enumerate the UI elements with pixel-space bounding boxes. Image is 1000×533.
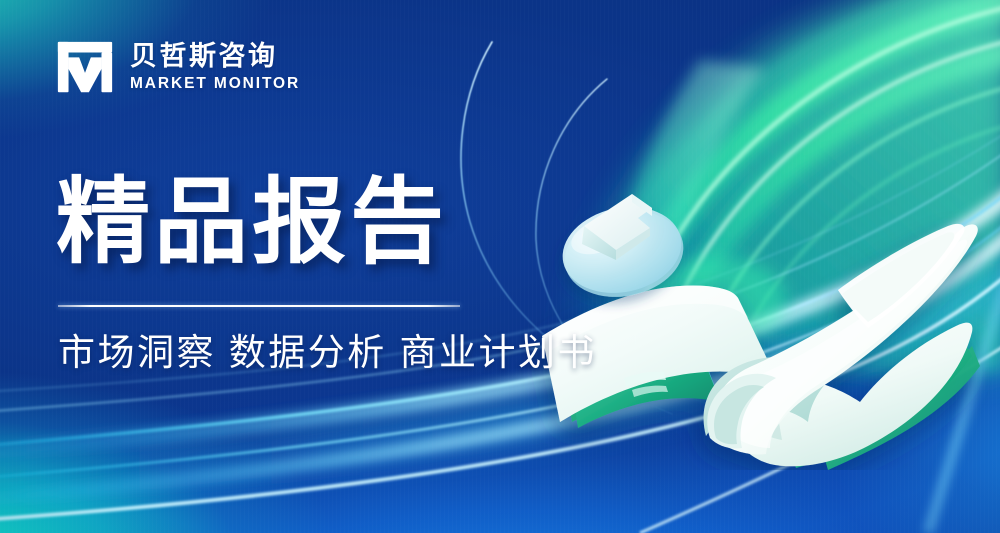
title-divider bbox=[58, 305, 460, 307]
brand-text: 贝哲斯咨询 MARKET MONITOR bbox=[130, 42, 300, 92]
open-book-illustration bbox=[520, 140, 990, 470]
market-monitor-m-mark-icon bbox=[54, 36, 116, 98]
brand-name-en: MARKET MONITOR bbox=[130, 75, 300, 92]
page-subtitle: 市场洞察 数据分析 商业计划书 bbox=[58, 330, 597, 376]
brand-logo[interactable]: 贝哲斯咨询 MARKET MONITOR bbox=[54, 36, 300, 98]
report-banner: 贝哲斯咨询 MARKET MONITOR 精品报告 市场洞察 数据分析 商业计划… bbox=[0, 0, 1000, 533]
brand-name-cn: 贝哲斯咨询 bbox=[130, 42, 300, 72]
page-title: 精品报告 bbox=[56, 172, 448, 272]
